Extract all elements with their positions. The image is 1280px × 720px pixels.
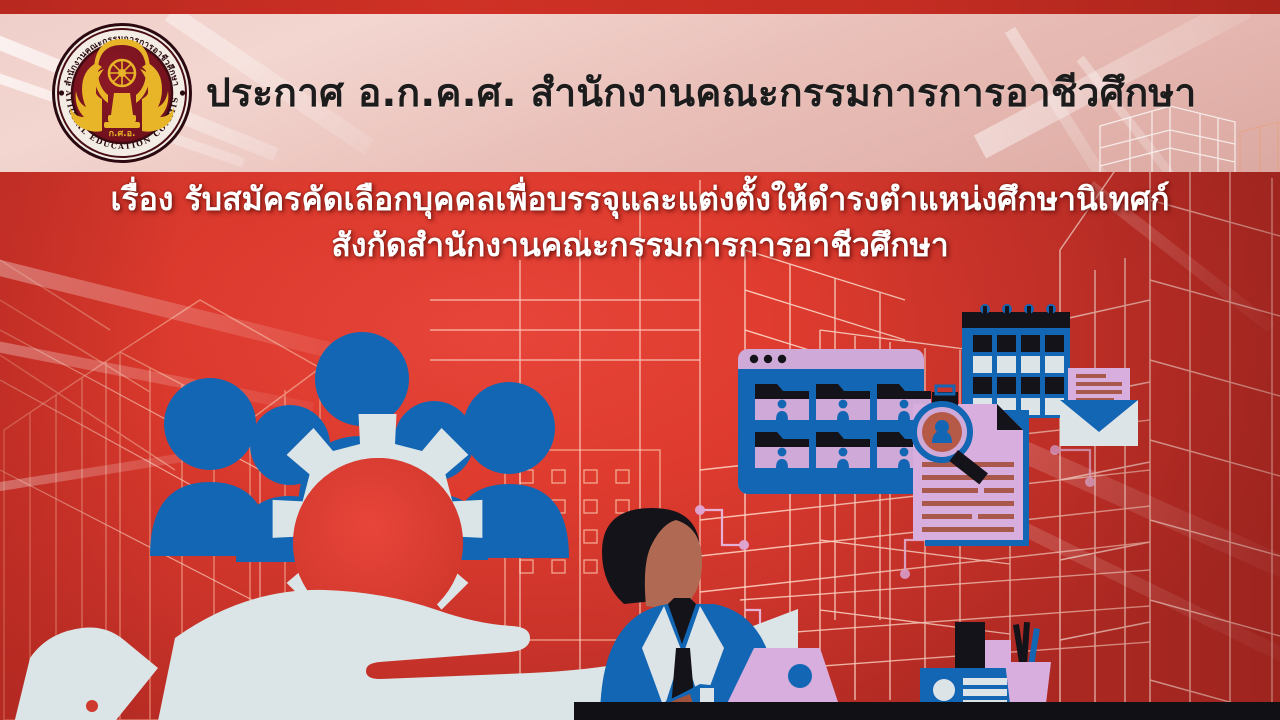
folder-window-icon: [738, 349, 931, 494]
id-card-icon: [920, 622, 1018, 712]
desk-surface: [574, 702, 1280, 720]
top-red-strip: [0, 0, 1280, 14]
page-title: ประกาศ อ.ก.ค.ศ. สำนักงานคณะกรรมการการอาช…: [206, 74, 1196, 113]
envelope-icon: [1060, 368, 1138, 446]
poster-root: เรื่อง รับสมัครคัดเลือกบุคคลเพื่อบรรจุแล…: [0, 0, 1280, 720]
header-band: สำนักงานคณะกรรมการการอาชีวศึกษา VOCATION…: [0, 14, 1280, 172]
pen-holder-icon: [1005, 622, 1051, 712]
resume-magnifier-icon: [913, 386, 1029, 546]
seal-abbreviation: ก.ศ.อ.: [109, 129, 136, 139]
vocational-education-commission-seal: สำนักงานคณะกรรมการการอาชีวศึกษา VOCATION…: [48, 19, 196, 167]
person-working-laptop-icon: [600, 508, 858, 720]
calendar-icon: [962, 304, 1070, 418]
